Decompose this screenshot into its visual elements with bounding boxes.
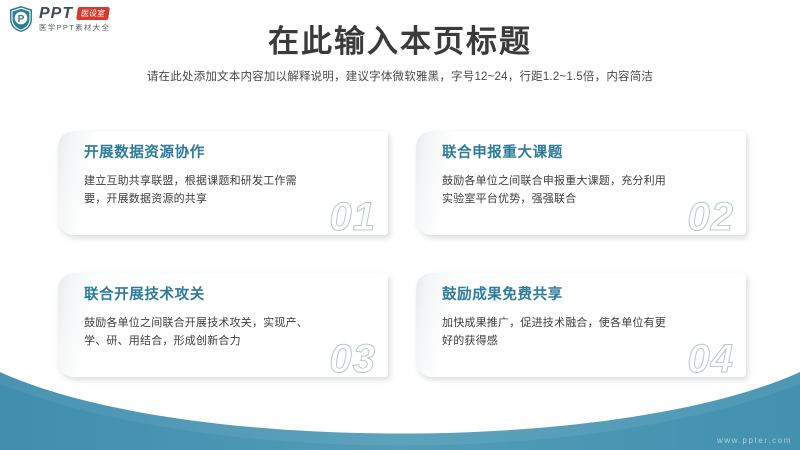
card-body-1: 建立互助共享联盟，根据课题和研发工作需要，开展数据资源的共享 [84, 172, 316, 208]
wave-dark-layer [0, 372, 800, 450]
content-card-3[interactable]: 联合开展技术攻关 鼓励各单位之间联合开展技术攻关，实现产、学、研、用结合，形成创… [58, 273, 388, 377]
card-body-4: 加快成果推广，促进技术融合，使各单位有更好的获得感 [442, 314, 674, 350]
card-title-1: 开展数据资源协作 [84, 143, 378, 163]
page-title: 在此输入本页标题 [0, 16, 800, 61]
content-card-2[interactable]: 联合申报重大课题 鼓励各单位之间联合申报重大课题，充分利用实验室平台优势，强强联… [416, 131, 746, 235]
content-card-4[interactable]: 鼓励成果免费共享 加快成果推广，促进技术融合，使各单位有更好的获得感 04 [416, 273, 746, 377]
card-content-1: 开展数据资源协作 建立互助共享联盟，根据课题和研发工作需要，开展数据资源的共享 [84, 143, 378, 208]
bottom-wave-decoration [0, 370, 800, 450]
card-title-4: 鼓励成果免费共享 [442, 285, 736, 305]
page-subtitle: 请在此处添加文本内容加以解释说明，建议字体微软雅黑，字号12~24，行距1.2~… [0, 68, 800, 84]
card-content-4: 鼓励成果免费共享 加快成果推广，促进技术融合，使各单位有更好的获得感 [442, 285, 736, 350]
card-content-3: 联合开展技术攻关 鼓励各单位之间联合开展技术攻关，实现产、学、研、用结合，形成创… [84, 285, 378, 350]
card-title-3: 联合开展技术攻关 [84, 285, 378, 305]
slide-canvas: P PPT 医设室 医学PPT素材大全 在此输入本页标题 请在此处添加文本内容加… [0, 0, 800, 450]
card-title-2: 联合申报重大课题 [442, 143, 736, 163]
card-body-3: 鼓励各单位之间联合开展技术攻关，实现产、学、研、用结合，形成创新合力 [84, 314, 316, 350]
watermark: www.ppter.com [717, 436, 792, 445]
content-card-1[interactable]: 开展数据资源协作 建立互助共享联盟，根据课题和研发工作需要，开展数据资源的共享 … [58, 131, 388, 235]
card-content-2: 联合申报重大课题 鼓励各单位之间联合申报重大课题，充分利用实验室平台优势，强强联… [442, 143, 736, 208]
card-body-2: 鼓励各单位之间联合申报重大课题，充分利用实验室平台优势，强强联合 [442, 172, 674, 208]
card-grid: 开展数据资源协作 建立互助共享联盟，根据课题和研发工作需要，开展数据资源的共享 … [58, 131, 746, 377]
